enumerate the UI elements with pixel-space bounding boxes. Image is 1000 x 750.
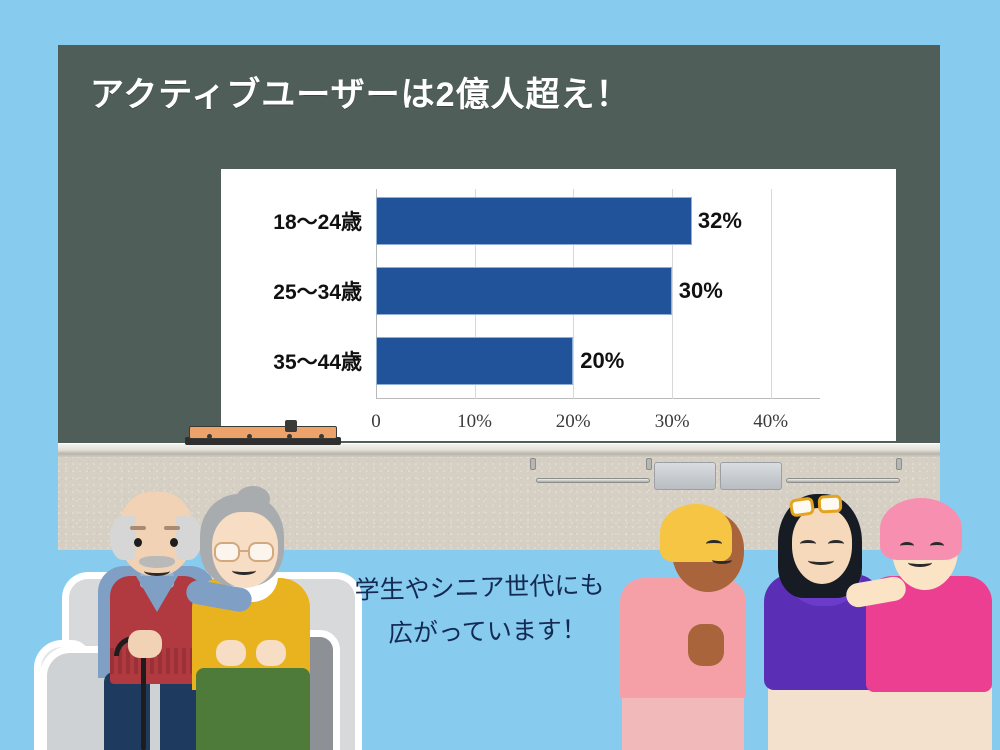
value-label: 32% [698, 208, 742, 234]
x-tick-0: 0 [371, 411, 381, 433]
value-label: 30% [679, 278, 723, 304]
chart-panel: 18〜24歳 32% 25〜34歳 30% 35〜44歳 20% 0 10% [221, 169, 896, 441]
bar-25-34 [376, 267, 672, 315]
classroom-scene: アクティブユーザーは2億人超え！ 18〜24歳 32% 25〜34歳 [0, 0, 1000, 750]
table-row: 18〜24歳 32% [376, 197, 820, 245]
bar-chart: 18〜24歳 32% 25〜34歳 30% 35〜44歳 20% 0 10% [376, 189, 820, 399]
chalkboard-eraser-icon [185, 426, 341, 445]
x-tick-30: 30% [655, 411, 690, 433]
board-panel-right[interactable] [720, 462, 782, 490]
table-row: 35〜44歳 20% [376, 337, 820, 385]
x-tick-10: 10% [457, 411, 492, 433]
page-title: アクティブユーザーは2億人超え！ [90, 67, 631, 116]
handwritten-caption: 学生やシニア世代にも 広がっています！ [329, 563, 631, 657]
chalk-ledge [58, 443, 940, 457]
caption-line-2: 広がっています！ [344, 607, 631, 657]
board-panel-left[interactable] [654, 462, 716, 490]
caption-line-1: 学生やシニア世代にも [354, 570, 605, 604]
value-label: 20% [580, 348, 624, 374]
rail-bracket-right [896, 458, 902, 470]
category-label: 25〜34歳 [273, 276, 362, 306]
board-handle-left[interactable] [536, 478, 650, 483]
table-row: 25〜34歳 30% [376, 267, 820, 315]
bar-35-44 [376, 337, 573, 385]
board-handle-right[interactable] [786, 478, 900, 483]
chalkboard: アクティブユーザーは2億人超え！ 18〜24歳 32% 25〜34歳 [58, 45, 940, 443]
x-tick-20: 20% [556, 411, 591, 433]
x-axis [376, 398, 820, 399]
rail-bracket-mid [646, 458, 652, 470]
bar-18-24 [376, 197, 692, 245]
x-tick-40: 40% [753, 411, 788, 433]
category-label: 35〜44歳 [273, 346, 362, 376]
rail-bracket-left [530, 458, 536, 470]
category-label: 18〜24歳 [273, 206, 362, 236]
